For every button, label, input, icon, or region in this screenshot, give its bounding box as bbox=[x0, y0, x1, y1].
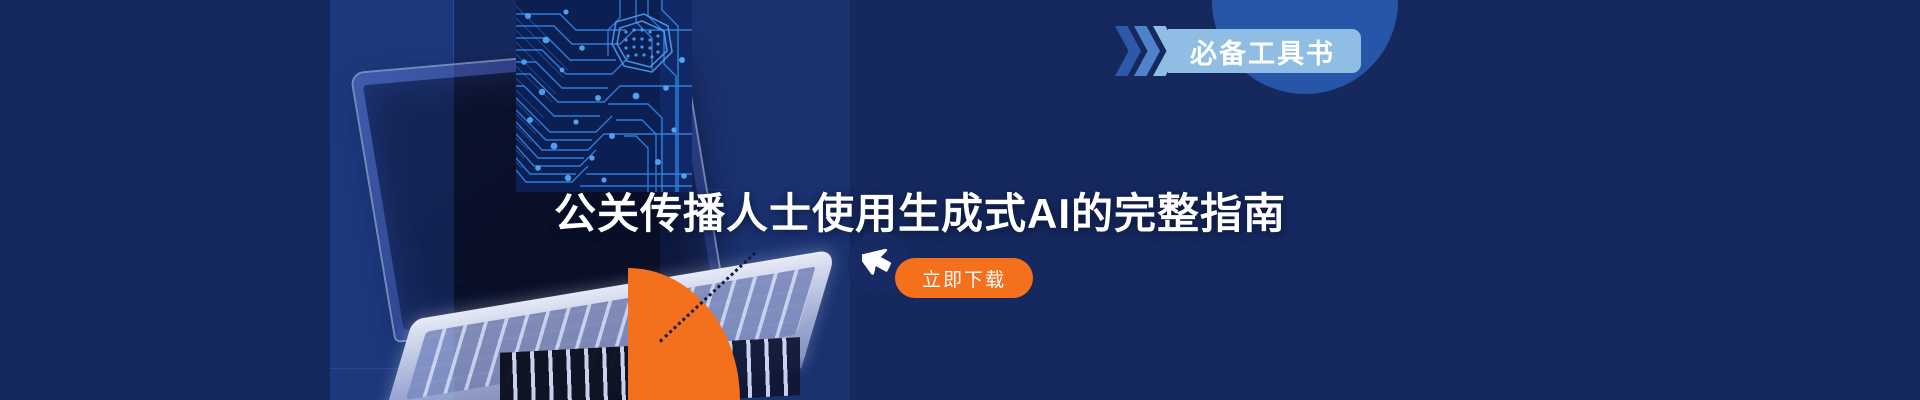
badge: 必备工具书 bbox=[1115, 26, 1361, 76]
page-title: 公关传播人士使用生成式AI的完整指南 bbox=[554, 180, 1286, 241]
promo-banner: 必备工具书 公关传播人士使用生成式AI的完整指南 立即下载 bbox=[0, 0, 1920, 400]
chevron-right-icon-1 bbox=[1115, 26, 1141, 76]
badge-label: 必备工具书 bbox=[1168, 29, 1361, 73]
download-button[interactable]: 立即下载 bbox=[895, 258, 1033, 298]
circuit-board-texture bbox=[516, 0, 692, 192]
